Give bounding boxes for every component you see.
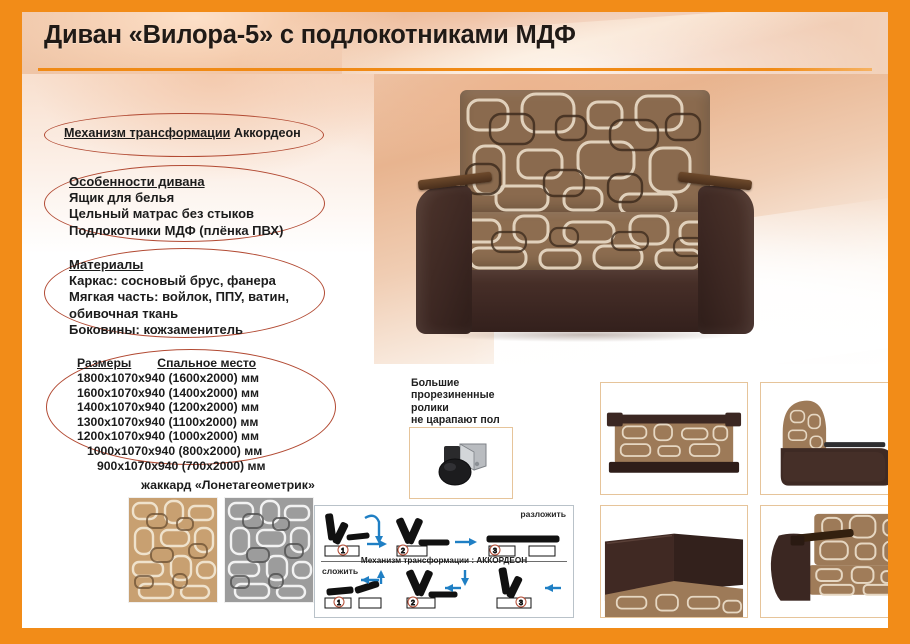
dimensions-header-right: Спальное место <box>157 356 256 370</box>
jacquard-pattern-icon <box>452 212 718 274</box>
product-sheet-page: Диван «Вилора-5» с подлокотниками МДФ Ме… <box>0 0 910 644</box>
dimensions-row: 1800x1070x940 (1600x2000) мм <box>77 371 265 386</box>
dimensions-row: 1400x1070x940 (1200x2000) мм <box>77 400 265 415</box>
materials-item: Мягкая часть: войлок, ППУ, ватин, <box>69 289 289 305</box>
svg-text:1: 1 <box>341 548 345 555</box>
dimensions-row: 1300x1070x940 (1100x2000) мм <box>77 415 265 430</box>
fabric-swatch-beige[interactable] <box>129 498 217 602</box>
sofa-floor-shadow <box>438 330 734 342</box>
features-text: Особенности дивана Ящик для белья Цельны… <box>69 174 283 239</box>
sofa-illustration <box>412 90 742 352</box>
mechanism-info-oval: Механизм трансформации Аккордеон <box>44 113 324 157</box>
unfolded-bed-illustration <box>601 383 747 494</box>
jacquard-pattern-icon <box>225 498 313 602</box>
armrest-detail-illustration <box>761 506 888 617</box>
dimensions-row: 900x1070x940 (700x2000) мм <box>77 459 265 474</box>
side-view-illustration <box>761 383 888 494</box>
sofa-corner-detail-photo <box>600 505 748 618</box>
dimensions-row: 1000x1070x940 (800x2000) мм <box>77 444 265 459</box>
features-heading: Особенности дивана <box>69 174 283 190</box>
corner-detail-illustration <box>601 506 747 617</box>
title-divider-rule <box>38 68 872 71</box>
svg-text:2: 2 <box>411 600 415 607</box>
materials-item: Боковины: кожзаменитель <box>69 322 289 338</box>
jacquard-pattern-icon <box>129 498 217 602</box>
svg-text:3: 3 <box>519 600 523 607</box>
dimensions-row: 1600x1070x940 (1400x2000) мм <box>77 386 265 401</box>
features-item: Ящик для белья <box>69 190 283 206</box>
mechanism-label: Механизм трансформации <box>64 126 230 140</box>
dimensions-table: РазмерыСпальное место 1800x1070x940 (160… <box>77 356 265 473</box>
caster-wheel-icon <box>430 440 492 488</box>
fabric-swatch-grey[interactable] <box>225 498 313 602</box>
dimensions-info-oval: РазмерыСпальное место 1800x1070x940 (160… <box>46 349 336 465</box>
sofa-seat-cushion <box>452 212 718 274</box>
roller-line: ролики <box>411 402 500 414</box>
sofa-side-view-photo <box>760 382 888 495</box>
mechanism-value: Аккордеон <box>234 126 301 140</box>
svg-text:1: 1 <box>337 600 341 607</box>
roller-line: Большие <box>411 377 500 389</box>
dimensions-row: 1200x1070x940 (1000x2000) мм <box>77 429 265 444</box>
sofa-left-side-panel <box>416 186 472 334</box>
roller-callout-text: Большие прорезиненные ролики не царапают… <box>411 377 500 427</box>
sofa-armrest-detail-photo <box>760 505 888 618</box>
sofa-right-side-panel <box>698 186 754 334</box>
roller-line: не царапают пол <box>411 414 500 426</box>
materials-item: Каркас: сосновый брус, фанера <box>69 273 289 289</box>
caster-wheel-photo <box>409 427 513 499</box>
materials-text: Материалы Каркас: сосновый брус, фанера … <box>69 257 289 338</box>
svg-text:3: 3 <box>493 548 497 555</box>
dimensions-header-left: Размеры <box>77 356 131 370</box>
features-info-oval: Особенности дивана Ящик для белья Цельны… <box>44 165 325 242</box>
dimensions-header-row: РазмерыСпальное место <box>77 356 265 371</box>
transformation-diagram: разложить сложить Механизм трансформации… <box>314 505 574 618</box>
mechanism-text: Механизм трансформации Аккордеон <box>64 126 301 140</box>
materials-item: обивочная ткань <box>69 306 289 322</box>
sofa-base-drawer <box>454 270 718 332</box>
sheet-content: Диван «Вилора-5» с подлокотниками МДФ Ме… <box>22 12 888 628</box>
jacquard-pattern-icon <box>460 90 710 215</box>
svg-text:2: 2 <box>401 548 405 555</box>
fabric-caption: жаккард «Лонетагеометрик» <box>123 478 333 492</box>
features-item: Подлокотники МДФ (плёнка ПВХ) <box>69 223 283 239</box>
materials-info-oval: Материалы Каркас: сосновый брус, фанера … <box>44 248 325 338</box>
diagram-steps-illustration: 1 2 <box>315 506 573 618</box>
materials-heading: Материалы <box>69 257 289 273</box>
main-sofa-photo <box>374 74 888 364</box>
sofa-backrest <box>460 90 710 215</box>
page-title: Диван «Вилора-5» с подлокотниками МДФ <box>44 21 576 50</box>
sofa-unfolded-bed-photo <box>600 382 748 495</box>
features-item: Цельный матрас без стыков <box>69 206 283 222</box>
roller-line: прорезиненные <box>411 389 500 401</box>
